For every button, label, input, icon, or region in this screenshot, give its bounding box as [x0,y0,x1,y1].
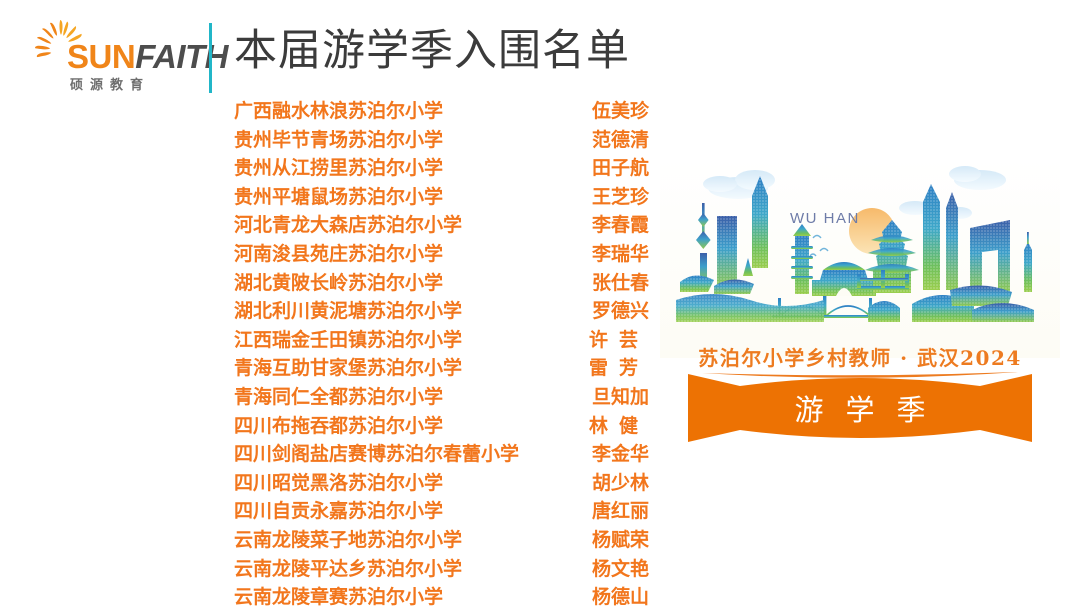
school-name: 贵州从江捞里苏泊尔小学 [234,156,443,180]
city-label-en: WU HAN [790,210,860,227]
school-name: 河南浚县苑庄苏泊尔小学 [234,242,443,266]
teacher-name: 范德清 [569,128,649,152]
brand-subtitle: 硕源教育 [70,74,150,93]
table-row: 云南龙陵菜子地苏泊尔小学杨赋荣 [234,528,634,557]
teacher-name: 李瑞华 [569,242,649,266]
table-row: 青海互助甘家堡苏泊尔小学雷芳 [234,356,634,385]
table-row: 湖北利川黄泥塘苏泊尔小学罗德兴 [234,299,634,328]
ribbon-label: 游学季 [688,372,1032,444]
school-name: 广西融水林浪苏泊尔小学 [234,99,443,123]
school-name: 湖北黄陂长岭苏泊尔小学 [234,271,443,295]
brand-wordmark-sun: SUN [67,38,135,75]
teacher-name: 田子航 [569,156,649,180]
brand-logo: SUNFAITH 硕源教育 [34,18,199,90]
table-row: 贵州从江捞里苏泊尔小学田子航 [234,156,634,185]
header-divider [209,23,212,93]
school-name: 云南龙陵菜子地苏泊尔小学 [234,528,462,552]
school-name: 河北青龙大森店苏泊尔小学 [234,213,462,237]
teacher-name: 张仕春 [569,271,649,295]
page-title: 本届游学季入围名单 [234,26,630,78]
teacher-name: 唐红丽 [569,499,649,523]
table-row: 云南龙陵平达乡苏泊尔小学杨文艳 [234,557,634,586]
school-name: 四川自贡永嘉苏泊尔小学 [234,499,443,523]
school-name: 青海同仁全都苏泊尔小学 [234,385,443,409]
table-row: 河北青龙大森店苏泊尔小学李春霞 [234,213,634,242]
table-row: 四川自贡永嘉苏泊尔小学唐红丽 [234,499,634,528]
teacher-name: 李春霞 [569,213,649,237]
teacher-name: 杨文艳 [569,557,649,581]
school-name: 湖北利川黄泥塘苏泊尔小学 [234,299,462,323]
table-row: 四川昭觉黑洛苏泊尔小学胡少林 [234,471,634,500]
teacher-name: 伍美珍 [569,99,649,123]
table-row: 四川剑阁盐店赛博苏泊尔春蕾小学李金华 [234,442,634,471]
emblem-caption: 苏泊尔小学乡村教师 · 武汉2024 [660,342,1060,371]
school-name: 云南龙陵章赛苏泊尔小学 [234,585,443,609]
school-name: 四川布拖吞都苏泊尔小学 [234,414,443,438]
teacher-name: 许芸 [569,328,649,352]
school-name: 贵州平塘鼠场苏泊尔小学 [234,185,443,209]
table-row: 青海同仁全都苏泊尔小学旦知加 [234,385,634,414]
teacher-name: 杨德山 [569,585,649,609]
wuhan-skyline-icon [660,158,1060,358]
table-row: 四川布拖吞都苏泊尔小学林健 [234,414,634,443]
school-name: 青海互助甘家堡苏泊尔小学 [234,356,462,380]
table-row: 云南龙陵章赛苏泊尔小学杨德山 [234,585,634,614]
teacher-name: 王芝珍 [569,185,649,209]
school-name: 江西瑞金壬田镇苏泊尔小学 [234,328,462,352]
teacher-name: 李金华 [569,442,649,466]
table-row: 湖北黄陂长岭苏泊尔小学张仕春 [234,271,634,300]
school-name: 四川昭觉黑洛苏泊尔小学 [234,471,443,495]
teacher-name: 旦知加 [569,385,649,409]
teacher-name: 雷芳 [569,356,649,380]
table-row: 贵州平塘鼠场苏泊尔小学王芝珍 [234,185,634,214]
school-name: 四川剑阁盐店赛博苏泊尔春蕾小学 [234,442,519,466]
table-row: 河南浚县苑庄苏泊尔小学李瑞华 [234,242,634,271]
table-row: 广西融水林浪苏泊尔小学伍美珍 [234,99,634,128]
school-name: 贵州毕节青场苏泊尔小学 [234,128,443,152]
brand-wordmark: SUNFAITH [67,40,228,73]
page-header: SUNFAITH 硕源教育 本届游学季入围名单 [0,0,1080,100]
table-row: 贵州毕节青场苏泊尔小学范德清 [234,128,634,157]
teacher-name: 罗德兴 [569,299,649,323]
event-emblem: WU HAN 苏泊尔小学乡村教师 · 武汉2024 游学季 [660,158,1060,458]
shortlist-table: 广西融水林浪苏泊尔小学伍美珍贵州毕节青场苏泊尔小学范德清贵州从江捞里苏泊尔小学田… [234,99,634,614]
school-name: 云南龙陵平达乡苏泊尔小学 [234,557,462,581]
teacher-name: 杨赋荣 [569,528,649,552]
table-row: 江西瑞金壬田镇苏泊尔小学许芸 [234,328,634,357]
brand-wordmark-faith: FAITH [135,38,228,75]
teacher-name: 林健 [569,414,649,438]
teacher-name: 胡少林 [569,471,649,495]
